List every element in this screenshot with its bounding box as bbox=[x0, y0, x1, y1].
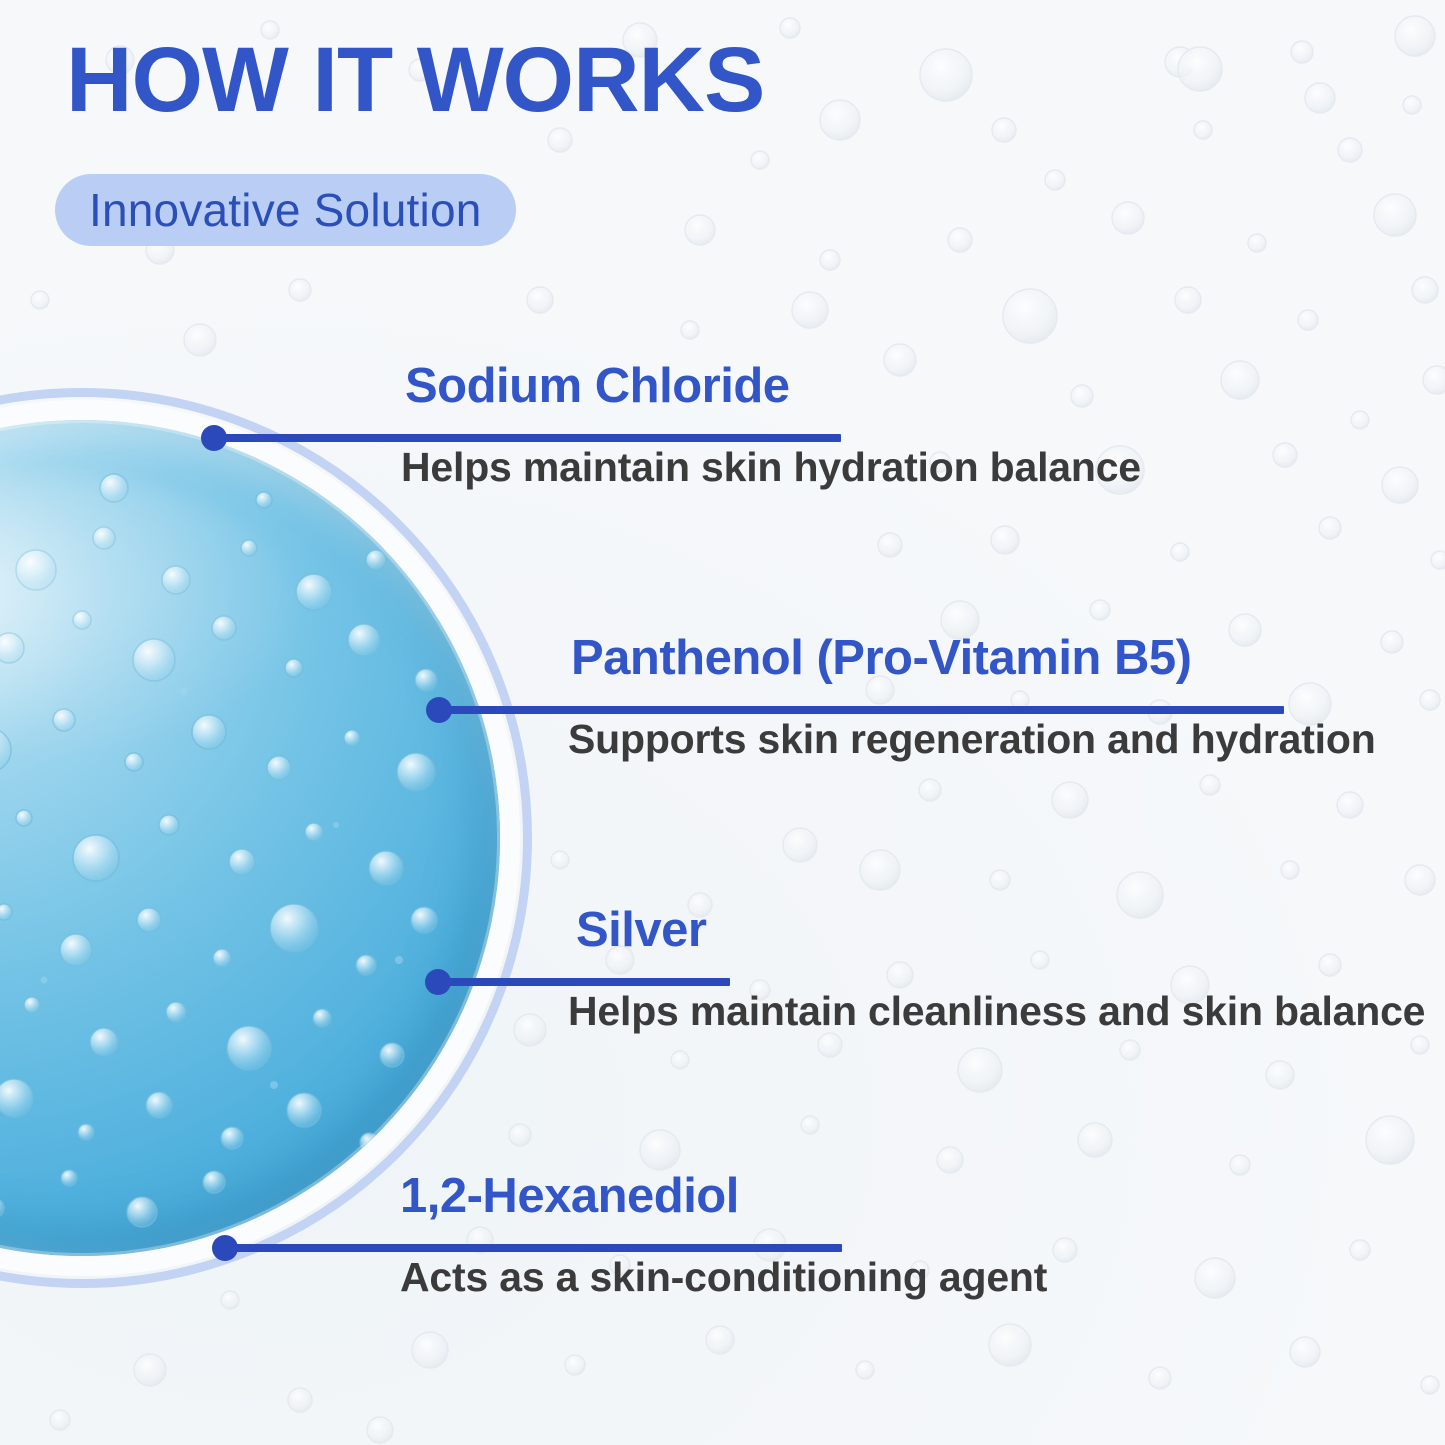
page-title: HOW IT WORKS bbox=[66, 34, 764, 126]
subtitle-badge-label: Innovative Solution bbox=[89, 183, 482, 237]
subtitle-badge: Innovative Solution bbox=[55, 174, 516, 246]
ingredient-title: Silver bbox=[576, 906, 706, 955]
how-it-works-infographic: HOW IT WORKS Innovative Solution Sodium … bbox=[0, 0, 1445, 1445]
ingredient-description: Helps maintain cleanliness and skin bala… bbox=[568, 991, 1425, 1032]
gel-bubbles bbox=[0, 420, 500, 1256]
ingredient-title: 1,2-Hexanediol bbox=[400, 1172, 739, 1221]
ingredient-title: Panthenol (Pro-Vitamin B5) bbox=[571, 634, 1191, 683]
ingredient-title: Sodium Chloride bbox=[405, 362, 790, 411]
ingredient-description: Acts as a skin-conditioning agent bbox=[400, 1257, 1047, 1298]
connector-line bbox=[439, 706, 1284, 714]
ingredient-description: Supports skin regeneration and hydration bbox=[568, 719, 1376, 760]
connector-line bbox=[214, 434, 841, 442]
ingredient-description: Helps maintain skin hydration balance bbox=[401, 447, 1141, 488]
connector-line bbox=[438, 978, 730, 986]
connector-line bbox=[225, 1244, 842, 1252]
blue-gel-serum-circle bbox=[0, 388, 532, 1288]
gel-fill bbox=[0, 420, 500, 1256]
